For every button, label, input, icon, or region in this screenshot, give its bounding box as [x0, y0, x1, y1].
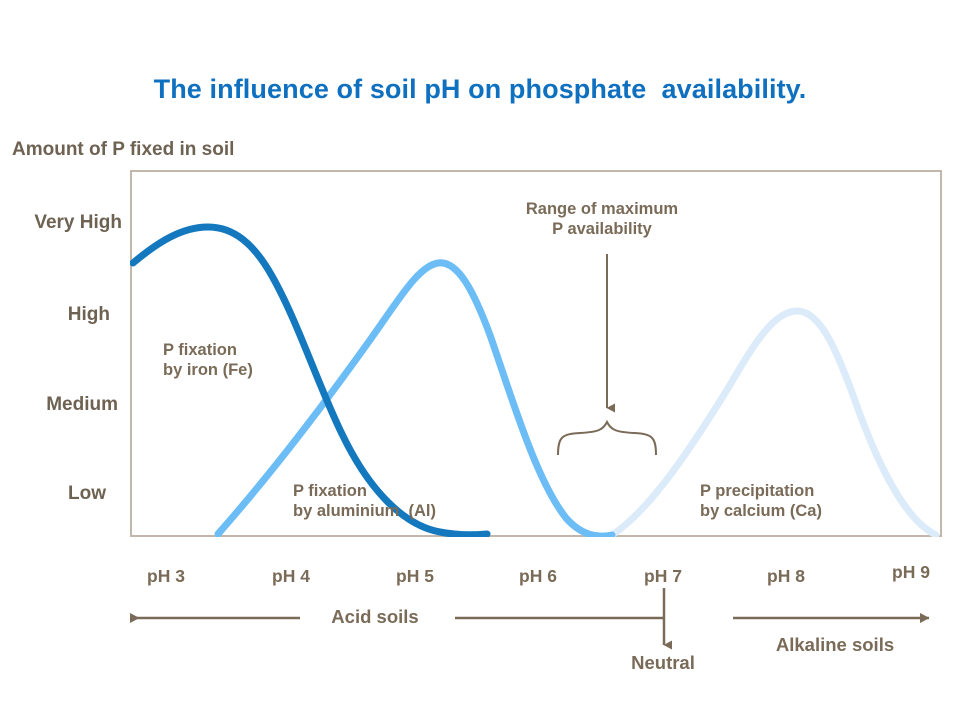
x-tick-label-ph7: pH 7: [617, 566, 709, 587]
label-alkaline-soils: Alkaline soils: [760, 634, 910, 656]
x-tick-label-ph5: pH 5: [369, 566, 461, 587]
annotation-calcium: P precipitation by calcium (Ca): [700, 481, 822, 521]
x-tick-label-ph4: pH 4: [245, 566, 337, 587]
y-tick-label-high: High: [0, 304, 110, 326]
label-neutral: Neutral: [603, 652, 723, 674]
annotation-max-availability: Range of maximum P availability: [503, 199, 701, 239]
y-tick-label-medium: Medium: [0, 394, 118, 416]
page-title: The influence of soil pH on phosphate av…: [0, 74, 960, 105]
label-acid-soils: Acid soils: [305, 606, 445, 628]
y-tick-label-very-high: Very High: [0, 212, 122, 234]
x-tick-label-ph3: pH 3: [120, 566, 212, 587]
annotation-iron: P fixation by iron (Fe): [163, 340, 253, 380]
x-tick-label-ph8: pH 8: [740, 566, 832, 587]
slide-canvas: The influence of soil pH on phosphate av…: [0, 0, 960, 720]
x-tick-label-ph6: pH 6: [492, 566, 584, 587]
y-tick-label-low: Low: [0, 483, 106, 505]
annotation-aluminium: P fixation by aluminium (Al): [293, 481, 436, 521]
y-axis-caption: Amount of P fixed in soil: [12, 139, 234, 161]
x-tick-label-ph9: pH 9: [865, 562, 957, 583]
